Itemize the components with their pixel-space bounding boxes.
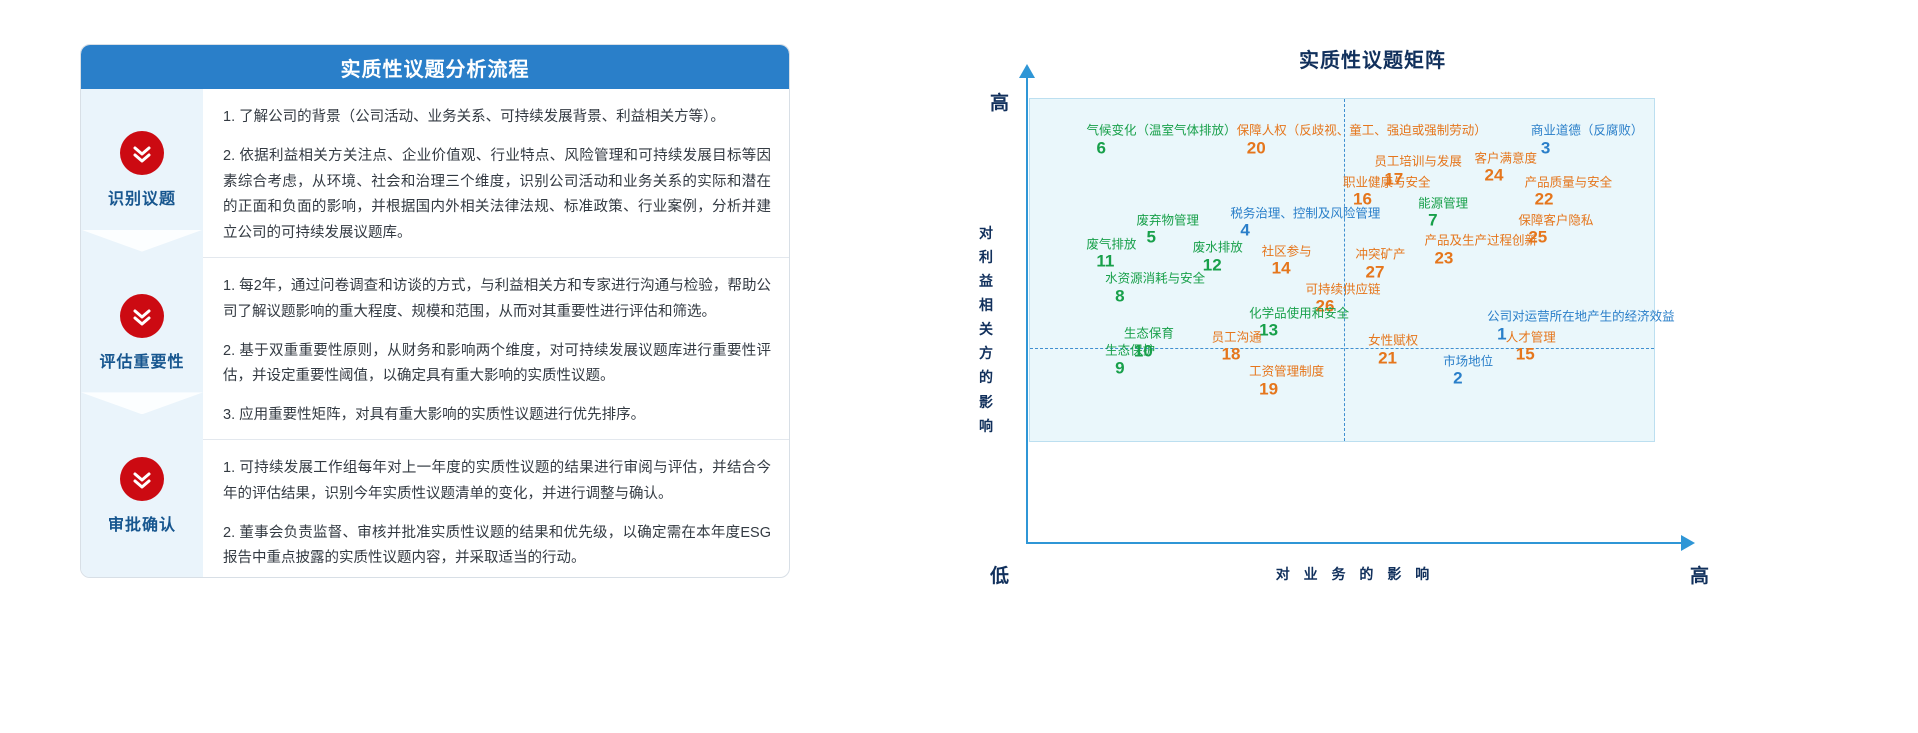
- matrix-item-11[interactable]: 废气排放11: [1086, 238, 1136, 270]
- x-axis-title: 对 业 务 的 影 响: [1145, 564, 1565, 584]
- matrix-item-number: 18: [1212, 345, 1262, 362]
- matrix-item-label: 女性赋权: [1368, 334, 1418, 347]
- matrix-item-4[interactable]: 税务治理、控制及风险管理4: [1230, 207, 1380, 239]
- matrix-item-label: 保障人权（反歧视、童工、强迫或强制劳动）: [1237, 125, 1487, 138]
- matrix-item-label: 能源管理: [1418, 197, 1468, 210]
- matrix-item-label: 商业道德（反腐败）: [1531, 125, 1644, 138]
- flow-stage-column: 识别议题 评估重要性: [81, 89, 203, 577]
- matrix-item-15[interactable]: 人才管理15: [1506, 331, 1556, 363]
- matrix-item-label: 产品及生产过程创新: [1424, 235, 1537, 248]
- flow-text-identify: 1. 了解公司的背景（公司活动、业务关系、可持续发展背景、利益相关方等）。 2.…: [203, 89, 789, 258]
- x-axis-arrow-icon: [1681, 535, 1695, 551]
- matrix-item-number: 27: [1356, 263, 1406, 280]
- y-axis-low-label: 低: [990, 561, 1009, 588]
- matrix-item-12[interactable]: 废水排放12: [1193, 241, 1243, 273]
- flow-paragraph: 2. 依据利益相关方关注点、企业价值观、行业特点、风险管理和可持续发展目标等因素…: [223, 144, 771, 247]
- flow-stage-label: 识别议题: [108, 185, 176, 209]
- matrix-item-number: 22: [1525, 191, 1613, 208]
- matrix-item-label: 废弃物管理: [1136, 214, 1199, 227]
- matrix-item-3[interactable]: 商业道德（反腐败）3: [1531, 125, 1644, 157]
- matrix-item-label: 产品质量与安全: [1525, 176, 1613, 189]
- matrix-item-label: 气候变化（温室气体排放）: [1086, 125, 1236, 138]
- y-axis-high-label: 高: [990, 88, 1009, 115]
- flow-paragraph: 2. 基于双重重要性原则，从财务和影响两个维度，对可持续发展议题库进行重要性评估…: [223, 339, 771, 391]
- flow-text-approve: 1. 可持续发展工作组每年对上一年度的实质性议题的结果进行审阅与评估，并结合今年…: [203, 440, 789, 578]
- y-axis-line: [1026, 76, 1028, 544]
- matrix-item-27[interactable]: 冲突矿产27: [1356, 248, 1406, 280]
- matrix-item-label: 员工沟通: [1212, 331, 1262, 344]
- matrix-item-number: 19: [1249, 380, 1324, 397]
- flow-paragraph: 1. 每2年，通过问卷调查和访谈的方式，与利益相关方和专家进行沟通与检验，帮助公…: [223, 274, 771, 326]
- matrix-item-number: 15: [1506, 345, 1556, 362]
- matrix-item-label: 保障客户隐私: [1518, 214, 1593, 227]
- matrix-item-label: 冲突矿产: [1356, 248, 1406, 261]
- matrix-item-number: 2: [1443, 370, 1493, 387]
- matrix-item-9[interactable]: 生态保护9: [1105, 345, 1155, 377]
- matrix-item-number: 13: [1249, 321, 1349, 338]
- matrix-title: 实质性议题矩阵: [845, 44, 1900, 73]
- matrix-item-number: 7: [1418, 211, 1468, 228]
- matrix-item-number: 9: [1105, 359, 1155, 376]
- matrix-item-18[interactable]: 员工沟通18: [1212, 331, 1262, 363]
- matrix-item-8[interactable]: 水资源消耗与安全8: [1105, 272, 1205, 304]
- matrix-item-19[interactable]: 工资管理制度19: [1249, 365, 1324, 397]
- matrix-item-label: 可持续供应链: [1305, 283, 1380, 296]
- matrix-plot-area: 气候变化（温室气体排放）6保障人权（反歧视、童工、强迫或强制劳动）20商业道德（…: [1029, 98, 1655, 442]
- matrix-item-label: 化学品使用和安全: [1249, 307, 1349, 320]
- double-chevron-down-icon: [120, 294, 164, 338]
- matrix-item-2[interactable]: 市场地位2: [1443, 355, 1493, 387]
- matrix-item-label: 生态保护: [1105, 345, 1155, 358]
- matrix-item-7[interactable]: 能源管理7: [1418, 197, 1468, 229]
- materiality-process-panel: 实质性议题分析流程 识别议题: [80, 44, 790, 578]
- matrix-item-14[interactable]: 社区参与14: [1262, 245, 1312, 277]
- flow-stage-approve[interactable]: 审批确认: [81, 414, 203, 577]
- flow-body: 识别议题 评估重要性: [81, 89, 789, 577]
- matrix-item-number: 5: [1136, 228, 1199, 245]
- matrix-item-label: 职业健康与安全: [1343, 176, 1431, 189]
- matrix-item-label: 客户满意度: [1474, 152, 1537, 165]
- flow-stage-identify[interactable]: 识别议题: [81, 89, 203, 252]
- flow-paragraph: 1. 可持续发展工作组每年对上一年度的实质性议题的结果进行审阅与评估，并结合今年…: [223, 456, 771, 508]
- matrix-item-number: 11: [1086, 253, 1136, 270]
- flow-stage-label: 评估重要性: [99, 348, 184, 372]
- matrix-item-label: 市场地位: [1443, 355, 1493, 368]
- matrix-item-number: 12: [1193, 256, 1243, 273]
- matrix-item-label: 人才管理: [1506, 331, 1556, 344]
- matrix-item-number: 14: [1262, 259, 1312, 276]
- matrix-item-number: 3: [1531, 139, 1644, 156]
- flow-text-assess: 1. 每2年，通过问卷调查和访谈的方式，与利益相关方和专家进行沟通与检验，帮助公…: [203, 258, 789, 440]
- flow-title: 实质性议题分析流程: [341, 53, 530, 82]
- flow-header: 实质性议题分析流程: [81, 45, 789, 89]
- x-axis-high-label: 高: [1690, 561, 1709, 588]
- double-chevron-down-icon: [120, 131, 164, 175]
- matrix-item-label: 员工培训与发展: [1374, 155, 1462, 168]
- matrix-item-6[interactable]: 气候变化（温室气体排放）6: [1086, 125, 1236, 157]
- matrix-item-number: 21: [1368, 349, 1418, 366]
- matrix-item-label: 工资管理制度: [1249, 365, 1324, 378]
- matrix-item-label: 公司对运营所在地产生的经济效益: [1487, 310, 1675, 323]
- x-axis-line: [1026, 542, 1686, 544]
- matrix-item-number: 4: [1230, 222, 1380, 239]
- matrix-item-21[interactable]: 女性赋权21: [1368, 334, 1418, 366]
- matrix-item-label: 生态保育: [1124, 327, 1174, 340]
- matrix-item-23[interactable]: 产品及生产过程创新23: [1424, 235, 1537, 267]
- matrix-item-number: 8: [1105, 287, 1205, 304]
- double-chevron-down-icon: [120, 457, 164, 501]
- matrix-item-number: 6: [1086, 139, 1236, 156]
- matrix-item-label: 废水排放: [1193, 241, 1243, 254]
- flow-stage-label: 审批确认: [108, 511, 176, 535]
- flow-paragraph: 3. 应用重要性矩阵，对具有重大影响的实质性议题进行优先排序。: [223, 403, 771, 429]
- matrix-item-number: 20: [1237, 139, 1487, 156]
- matrix-item-20[interactable]: 保障人权（反歧视、童工、强迫或强制劳动）20: [1237, 125, 1487, 157]
- matrix-item-22[interactable]: 产品质量与安全22: [1525, 176, 1613, 208]
- matrix-item-label: 社区参与: [1262, 245, 1312, 258]
- materiality-matrix-panel: 实质性议题矩阵 高 低 高 对利益相关方的影响 对 业 务 的 影 响 气候变化…: [845, 36, 1900, 596]
- matrix-item-13[interactable]: 化学品使用和安全13: [1249, 307, 1349, 339]
- matrix-item-label: 水资源消耗与安全: [1105, 272, 1205, 285]
- y-axis-title: 对利益相关方的影响: [975, 221, 997, 438]
- flow-stage-assess[interactable]: 评估重要性: [81, 252, 203, 415]
- matrix-item-5[interactable]: 废弃物管理5: [1136, 214, 1199, 246]
- matrix-item-label: 税务治理、控制及风险管理: [1230, 207, 1380, 220]
- flow-paragraph: 1. 了解公司的背景（公司活动、业务关系、可持续发展背景、利益相关方等）。: [223, 105, 771, 131]
- matrix-item-number: 23: [1424, 249, 1537, 266]
- flow-text-column: 1. 了解公司的背景（公司活动、业务关系、可持续发展背景、利益相关方等）。 2.…: [203, 89, 789, 577]
- matrix-item-label: 废气排放: [1086, 238, 1136, 251]
- flow-paragraph: 2. 董事会负责监督、审核并批准实质性议题的结果和优先级，以确定需在本年度ESG…: [223, 521, 771, 573]
